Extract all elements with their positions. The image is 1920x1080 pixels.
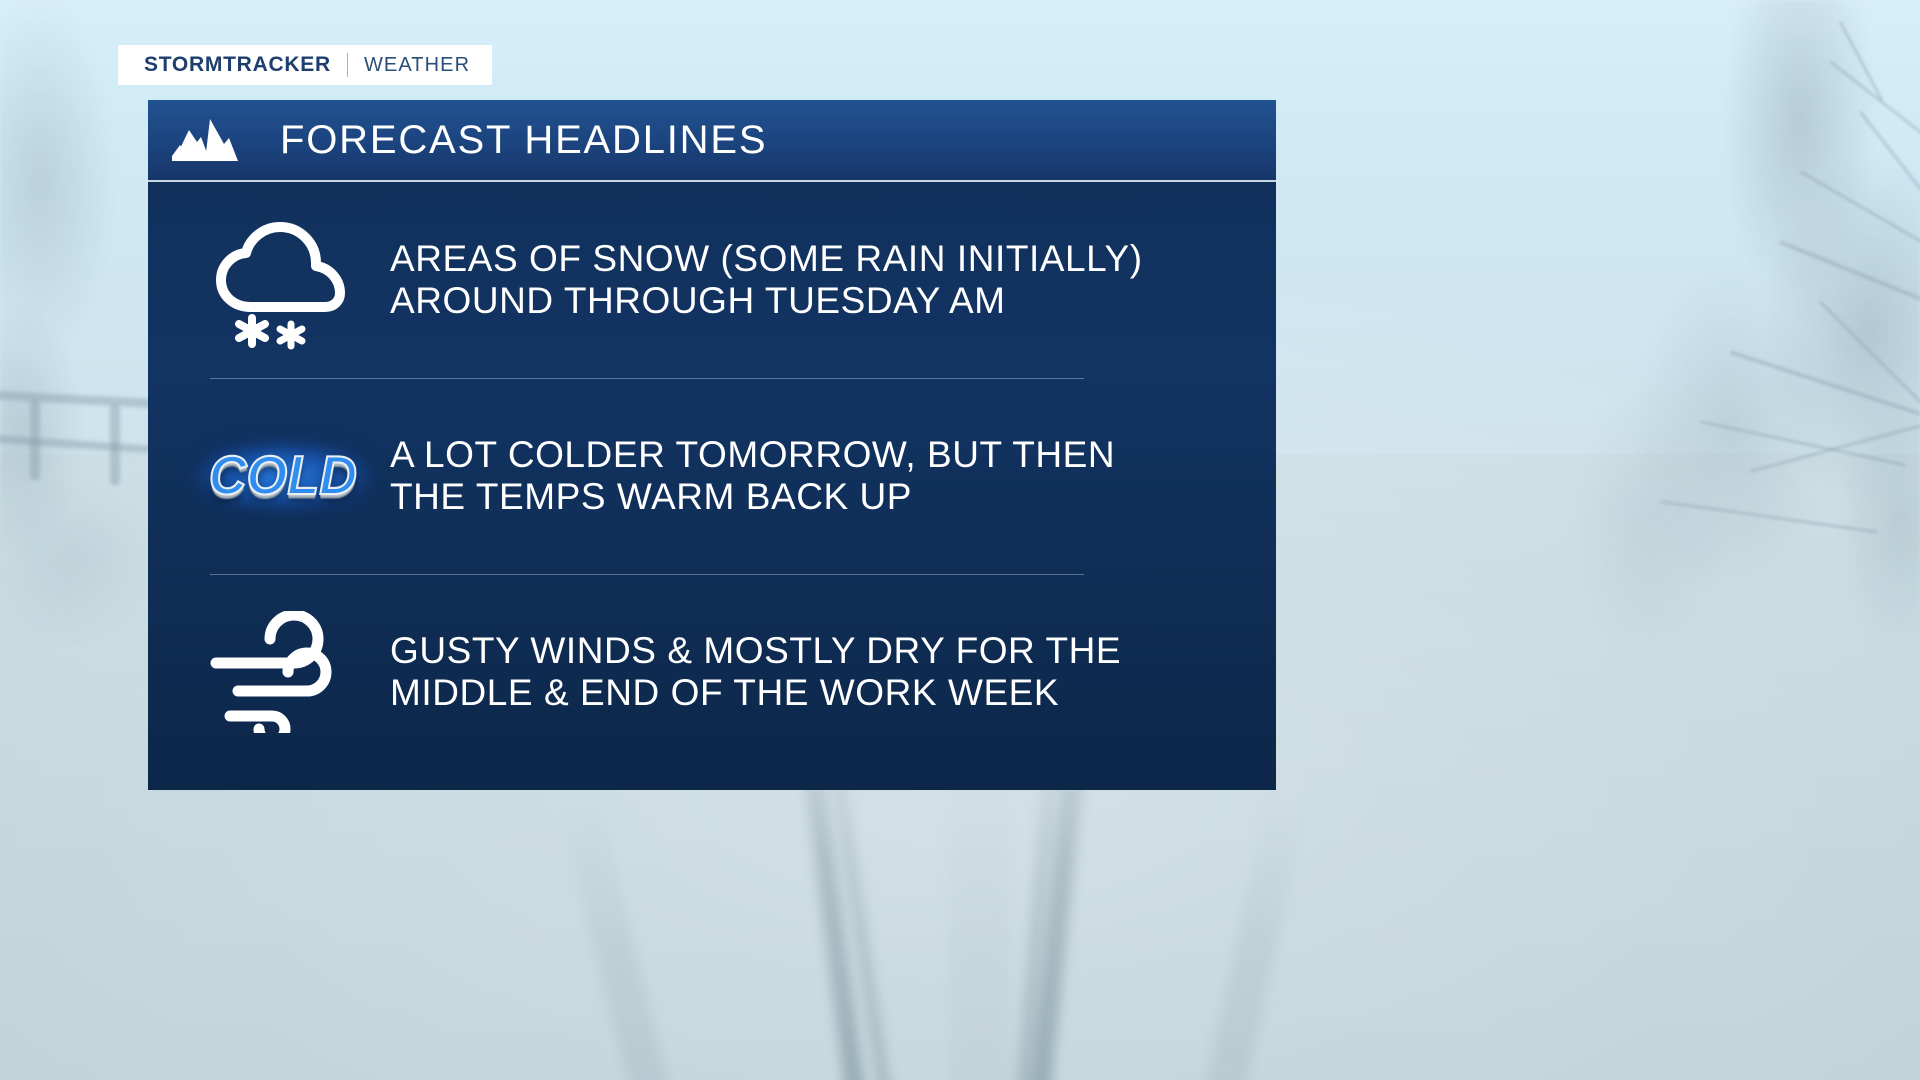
brand-name: STORMTRACKER	[144, 53, 331, 77]
headline-row-cold: COLD A LOT COLDER TOMORROW, BUT THEN THE…	[148, 378, 1276, 574]
card-body: AREAS OF SNOW (SOME RAIN INITIALLY) AROU…	[148, 182, 1276, 790]
headline-line-2: MIDDLE & END OF THE WORK WEEK	[390, 672, 1121, 714]
headline-line-2: AROUND THROUGH TUESDAY AM	[390, 280, 1143, 322]
cold-badge-icon: COLD	[190, 439, 376, 513]
stormtracker-brand-tab: STORMTRACKER WEATHER	[118, 45, 492, 85]
headline-line-1: A LOT COLDER TOMORROW, BUT THEN	[390, 434, 1115, 476]
headline-row-wind: GUSTY WINDS & MOSTLY DRY FOR THE MIDDLE …	[148, 574, 1276, 770]
headline-text-wind: GUSTY WINDS & MOSTLY DRY FOR THE MIDDLE …	[390, 630, 1121, 714]
page-title: FORECAST HEADLINES	[280, 118, 767, 163]
brand-category: WEATHER	[364, 54, 470, 77]
cold-badge-label: COLD	[209, 444, 357, 508]
forecast-headlines-card: FORECAST HEADLINES	[148, 100, 1276, 790]
snow-cloud-icon-wrap	[188, 210, 378, 350]
headline-text-cold: A LOT COLDER TOMORROW, BUT THEN THE TEMP…	[390, 434, 1115, 518]
card-header: FORECAST HEADLINES	[148, 100, 1276, 182]
headline-line-2: THE TEMPS WARM BACK UP	[390, 476, 1115, 518]
wind-icon	[208, 611, 358, 733]
cold-badge-icon-wrap: COLD	[188, 439, 378, 513]
wind-icon-wrap	[188, 611, 378, 733]
headline-text-snow: AREAS OF SNOW (SOME RAIN INITIALLY) AROU…	[390, 238, 1143, 322]
mountain-icon	[172, 116, 238, 164]
headline-line-1: AREAS OF SNOW (SOME RAIN INITIALLY)	[390, 238, 1143, 280]
weather-graphic-stage: STORMTRACKER WEATHER FORECAST HEADLINES	[0, 0, 1920, 1080]
headline-line-1: GUSTY WINDS & MOSTLY DRY FOR THE	[390, 630, 1121, 672]
headline-row-snow: AREAS OF SNOW (SOME RAIN INITIALLY) AROU…	[148, 182, 1276, 378]
brand-divider	[347, 53, 348, 77]
snow-cloud-icon	[212, 210, 354, 350]
